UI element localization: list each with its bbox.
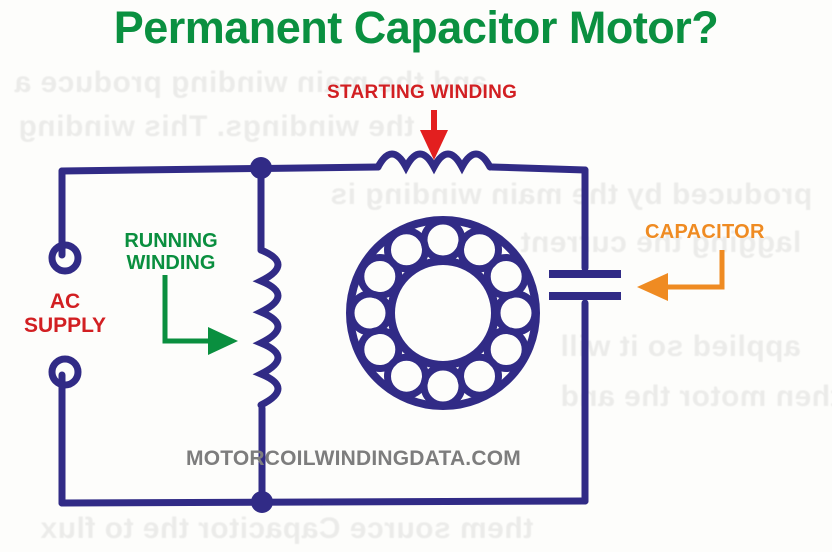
capacitor-arrow-icon [637,250,722,301]
rotor-icon [350,220,536,406]
junction-node-top [250,157,272,179]
running-winding-arrow-icon [165,275,238,355]
diagram-page: and the main winding produce a the windi… [0,0,832,552]
label-running-winding-line2: WINDING [108,252,234,274]
wire-bottom [62,501,585,503]
junction-node-bottom [251,491,273,513]
running-winding-coil-icon [261,250,278,405]
label-running-winding: RUNNING WINDING [108,230,234,275]
label-ac-supply: AC SUPPLY [13,290,117,337]
label-starting-winding: STARTING WINDING [327,82,517,103]
label-capacitor: CAPACITOR [645,221,765,243]
watermark: MOTORCOILWINDINGDATA.COM [186,447,521,471]
wire-top-left [62,167,378,171]
label-ac-supply-line1: AC [13,290,117,314]
wire-top-right [492,167,585,170]
label-running-winding-line1: RUNNING [108,230,234,252]
label-ac-supply-line2: SUPPLY [13,314,117,338]
